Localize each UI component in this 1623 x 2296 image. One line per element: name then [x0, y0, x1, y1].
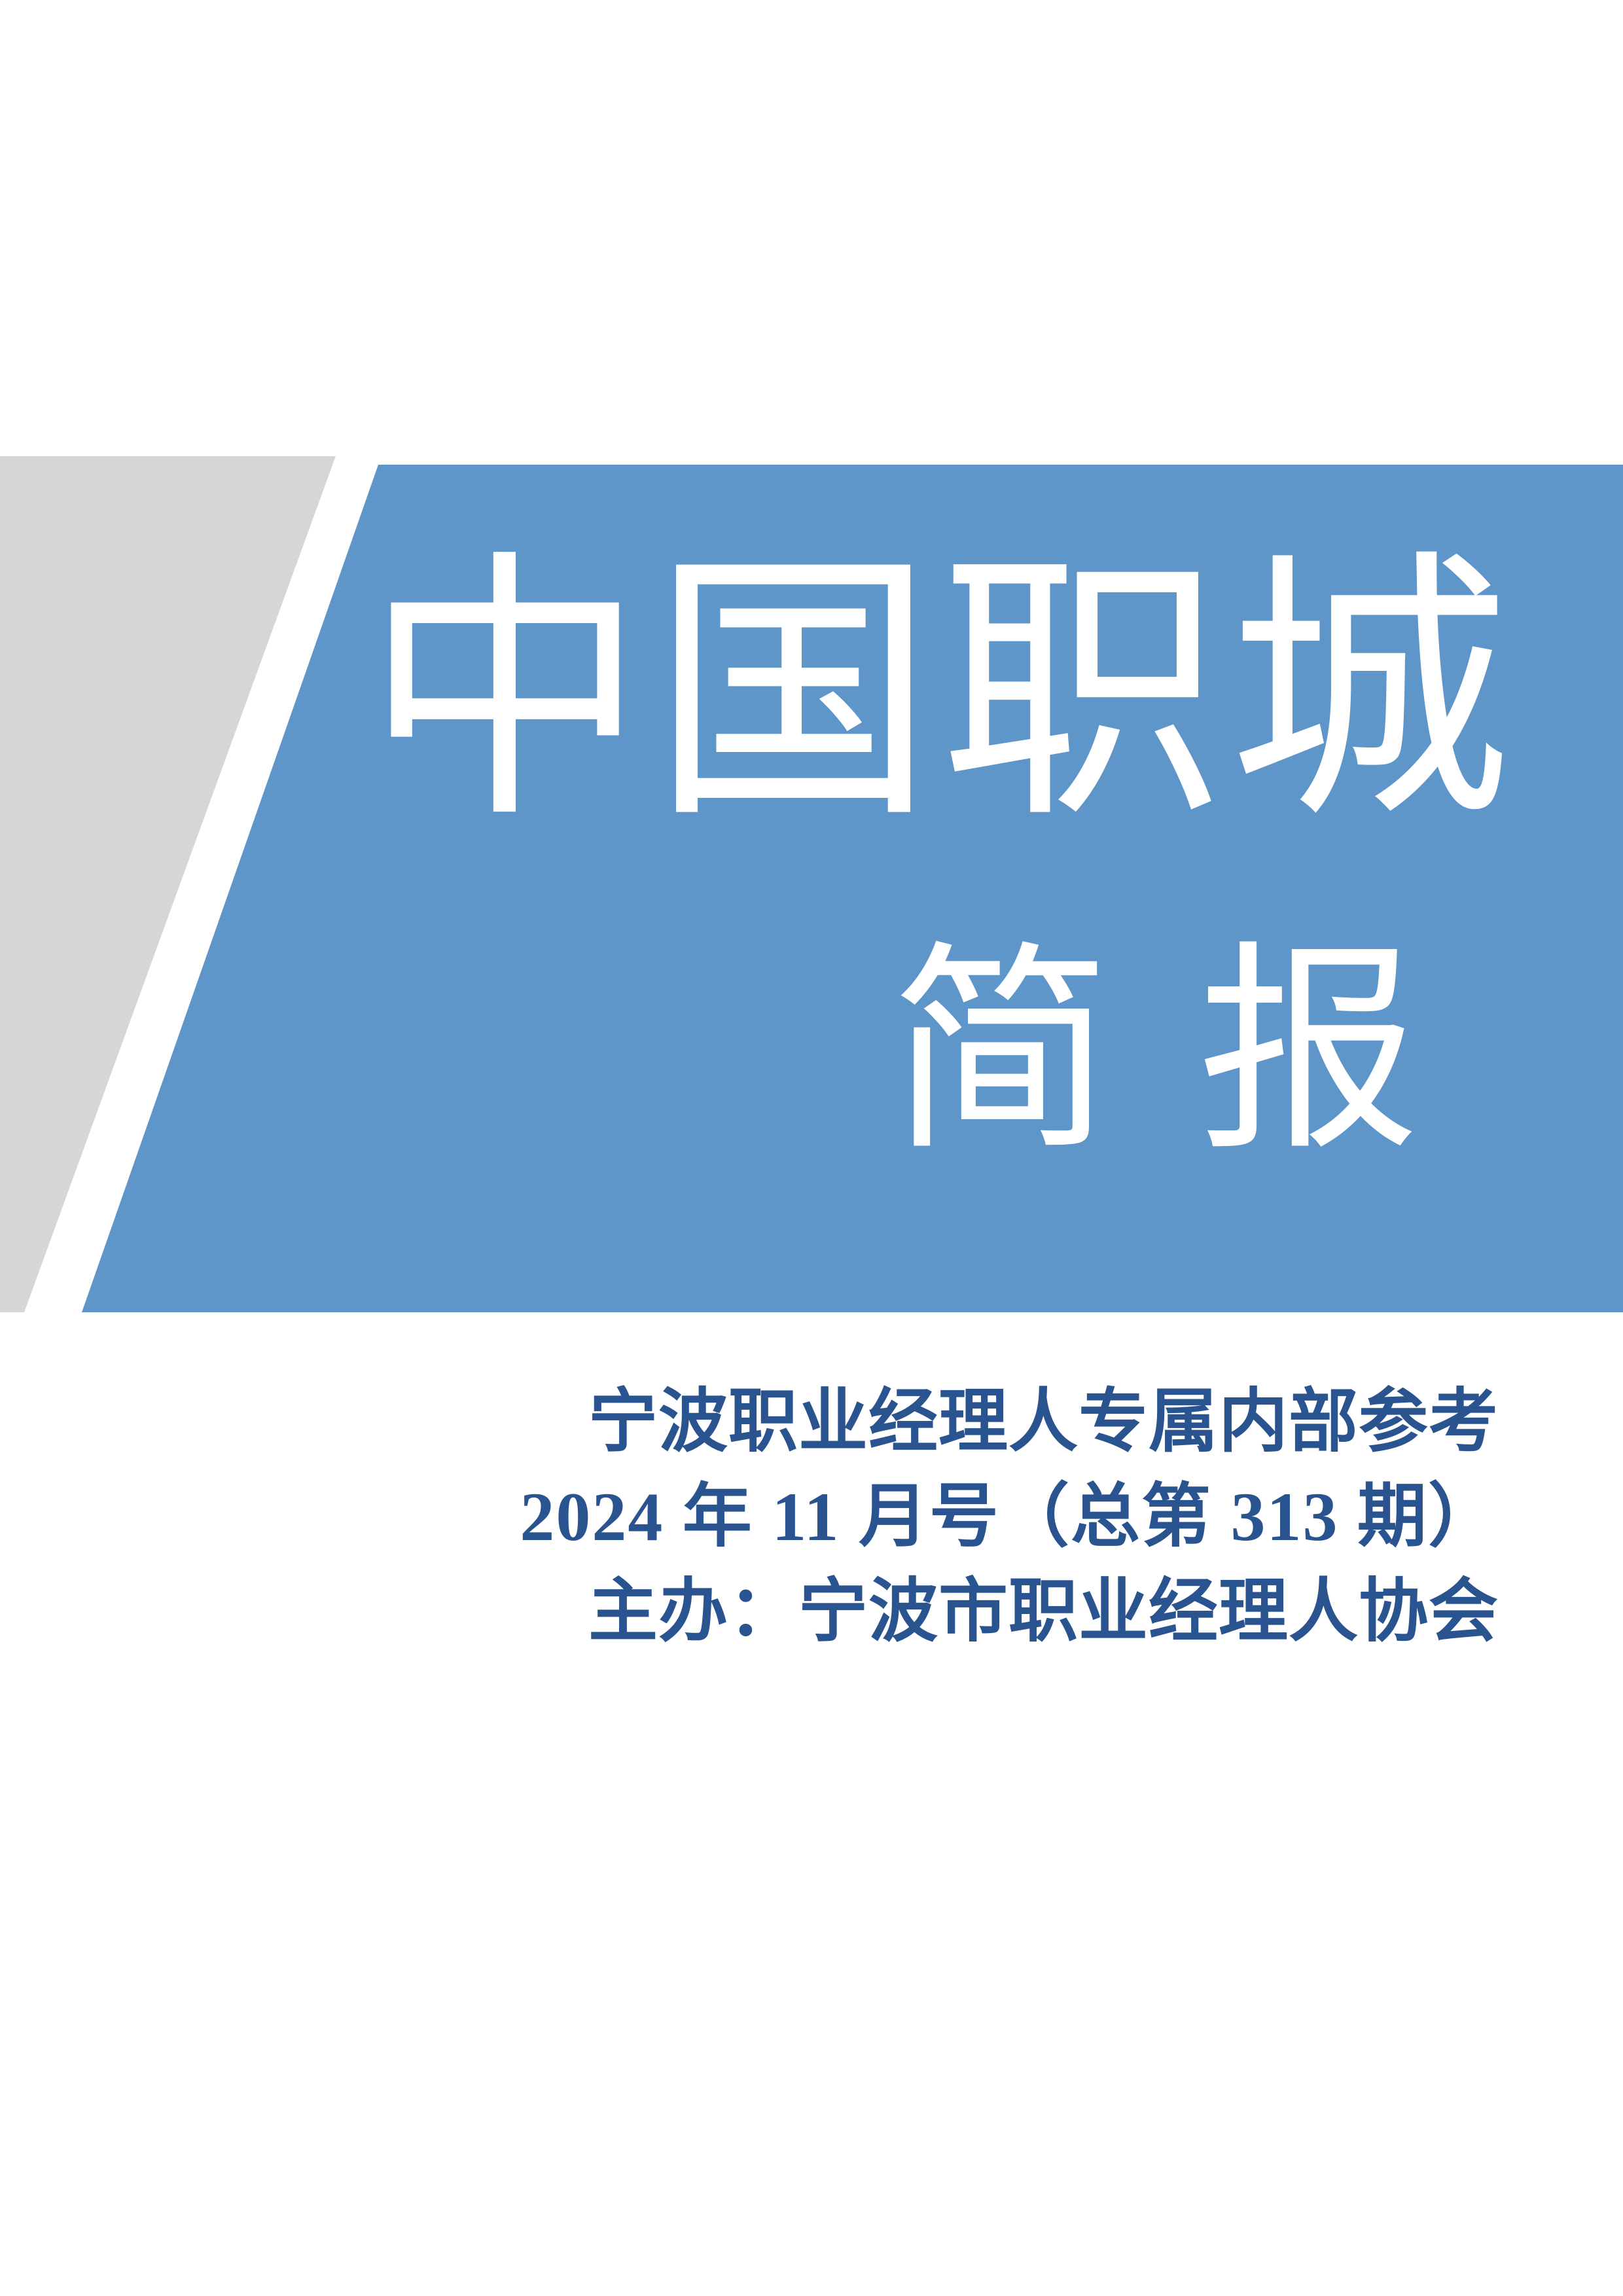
blue-parallelogram-shape	[82, 465, 1623, 1312]
colophon-publisher-line: 主办：宁波市职业经理人协会	[0, 1564, 1499, 1659]
banner-graphic	[0, 0, 1623, 1348]
colophon-audience-line: 宁波职业经理人专属内部参考	[0, 1374, 1499, 1469]
colophon-issue-line: 2024 年 11 月号（总第 313 期）	[0, 1469, 1499, 1564]
colophon-block: 宁波职业经理人专属内部参考 2024 年 11 月号（总第 313 期） 主办：…	[0, 1374, 1623, 1659]
cover-page: 中国职城 简报 宁波职业经理人专属内部参考 2024 年 11 月号（总第 31…	[0, 0, 1623, 2296]
